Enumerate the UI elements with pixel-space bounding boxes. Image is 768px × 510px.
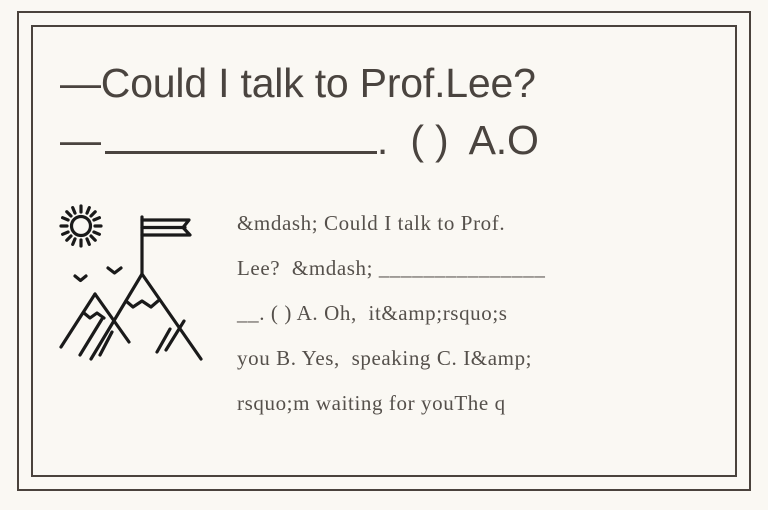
body-line: rsquo;m waiting for youThe q	[237, 381, 713, 426]
body-line: __. ( ) A. Oh, it&amp;rsquo;s	[237, 291, 713, 336]
illustration-and-text-row: &mdash; Could I talk to Prof. Lee? &mdas…	[53, 193, 713, 426]
bird-icon	[108, 268, 121, 273]
body-line: &mdash; Could I talk to Prof.	[237, 201, 713, 246]
mountain-peak-right	[91, 274, 201, 359]
title-line-answer: — . ( ) A.O	[60, 120, 710, 161]
bird-icon	[75, 276, 86, 281]
mountain-sunrise-icon	[53, 193, 225, 367]
title-blank-underline	[105, 121, 377, 154]
document-page: —Could I talk to Prof.Lee? — . ( ) A.O	[0, 0, 768, 510]
mountain-peak-left	[61, 294, 129, 347]
title-answer-options: . ( ) A.O	[377, 120, 539, 161]
title-em-dash: —	[60, 120, 101, 161]
body-line: Lee? &mdash; _______________	[237, 246, 713, 291]
page-title: —Could I talk to Prof.Lee? — . ( ) A.O	[60, 63, 710, 161]
page-content: —Could I talk to Prof.Lee? — . ( ) A.O	[31, 25, 737, 477]
flag-icon	[142, 217, 190, 273]
title-line-question: —Could I talk to Prof.Lee?	[60, 63, 710, 104]
body-paragraph: &mdash; Could I talk to Prof. Lee? &mdas…	[225, 193, 713, 426]
body-line: you B. Yes, speaking C. I&amp;	[237, 336, 713, 381]
sun-icon	[61, 206, 101, 246]
